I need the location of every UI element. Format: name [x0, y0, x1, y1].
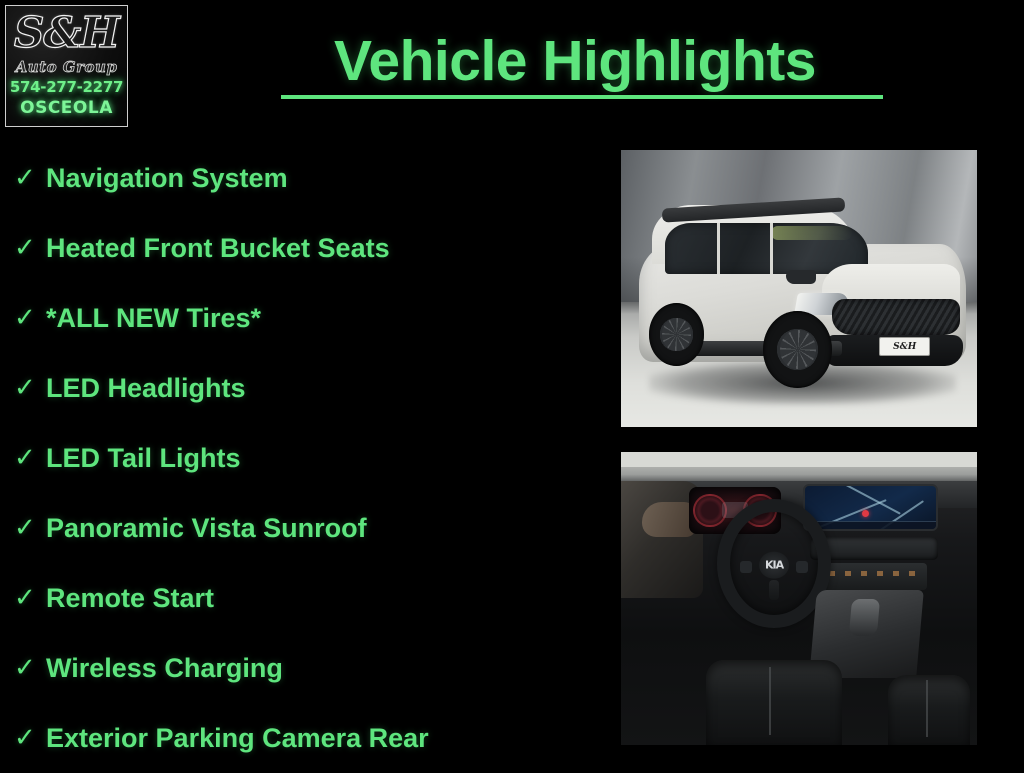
dealer-logo-subtitle: Auto Group: [6, 58, 127, 76]
feature-label: Exterior Parking Camera Rear: [46, 722, 429, 754]
suv-side-mirror: [786, 270, 815, 284]
steering-wheel-left-controls: [740, 561, 752, 572]
passenger-seat: [888, 675, 970, 745]
suv-illustration: S&H: [639, 197, 967, 394]
page-title-underline: [281, 95, 883, 99]
list-item: ✓ Heated Front Bucket Seats: [0, 213, 600, 283]
feature-label: Panoramic Vista Sunroof: [46, 512, 367, 544]
feature-label: Heated Front Bucket Seats: [46, 232, 390, 264]
page-title: Vehicle Highlights: [160, 30, 990, 92]
dealer-logo-city: OSCEOLA: [6, 98, 127, 118]
check-icon: ✓: [14, 515, 46, 541]
feature-label: Wireless Charging: [46, 652, 283, 684]
list-item: ✓ Panoramic Vista Sunroof: [0, 493, 600, 563]
climate-control-panel: [820, 563, 927, 589]
headliner: [621, 452, 977, 467]
nav-status-bar: [805, 521, 936, 529]
list-item: ✓ Navigation System: [0, 143, 600, 213]
list-item: ✓ Remote Start: [0, 563, 600, 633]
wood-trim: [642, 502, 695, 537]
vehicle-interior-photo: KIA: [621, 452, 977, 745]
suv-license-plate: S&H: [879, 337, 930, 357]
feature-label: Navigation System: [46, 162, 288, 194]
steering-wheel-hub: KIA: [759, 552, 789, 579]
list-item: ✓ LED Headlights: [0, 353, 600, 423]
list-item: ✓ Wireless Charging: [0, 633, 600, 703]
list-item: ✓ *ALL NEW Tires*: [0, 283, 600, 353]
gear-shifter: [849, 598, 880, 635]
dealer-logo: S&H Auto Group 574-277-2277 OSCEOLA: [5, 5, 128, 127]
list-item: ✓ Exterior Parking Camera Rear: [0, 703, 600, 773]
check-icon: ✓: [14, 375, 46, 401]
dealer-logo-phone: 574-277-2277: [6, 78, 127, 96]
check-icon: ✓: [14, 235, 46, 261]
suv-front-wheel: [763, 311, 832, 388]
check-icon: ✓: [14, 725, 46, 751]
steering-column: [769, 580, 780, 601]
navigation-screen: [803, 484, 938, 531]
nav-road-line: [845, 484, 902, 515]
suv-c-pillar: [770, 223, 773, 274]
dealer-logo-brand: S&H: [6, 10, 127, 56]
feature-label: Remote Start: [46, 582, 214, 614]
vehicle-exterior-photo: S&H: [621, 150, 977, 427]
check-icon: ✓: [14, 585, 46, 611]
feature-list: ✓ Navigation System ✓ Heated Front Bucke…: [0, 143, 600, 773]
kia-logo-icon: KIA: [765, 559, 783, 572]
steering-wheel: KIA: [717, 499, 831, 628]
slide-root: S&H Auto Group 574-277-2277 OSCEOLA Vehi…: [0, 0, 1024, 768]
check-icon: ✓: [14, 445, 46, 471]
feature-label: LED Tail Lights: [46, 442, 241, 474]
check-icon: ✓: [14, 655, 46, 681]
feature-label: LED Headlights: [46, 372, 246, 404]
suv-front-grille: [832, 299, 960, 334]
map-pin-icon: [862, 510, 869, 517]
driver-seat: [706, 660, 841, 745]
suv-b-pillar: [717, 223, 720, 274]
steering-wheel-right-controls: [796, 561, 808, 572]
feature-label: *ALL NEW Tires*: [46, 302, 261, 334]
check-icon: ✓: [14, 165, 46, 191]
list-item: ✓ LED Tail Lights: [0, 423, 600, 493]
suv-rear-wheel: [649, 303, 705, 366]
check-icon: ✓: [14, 305, 46, 331]
